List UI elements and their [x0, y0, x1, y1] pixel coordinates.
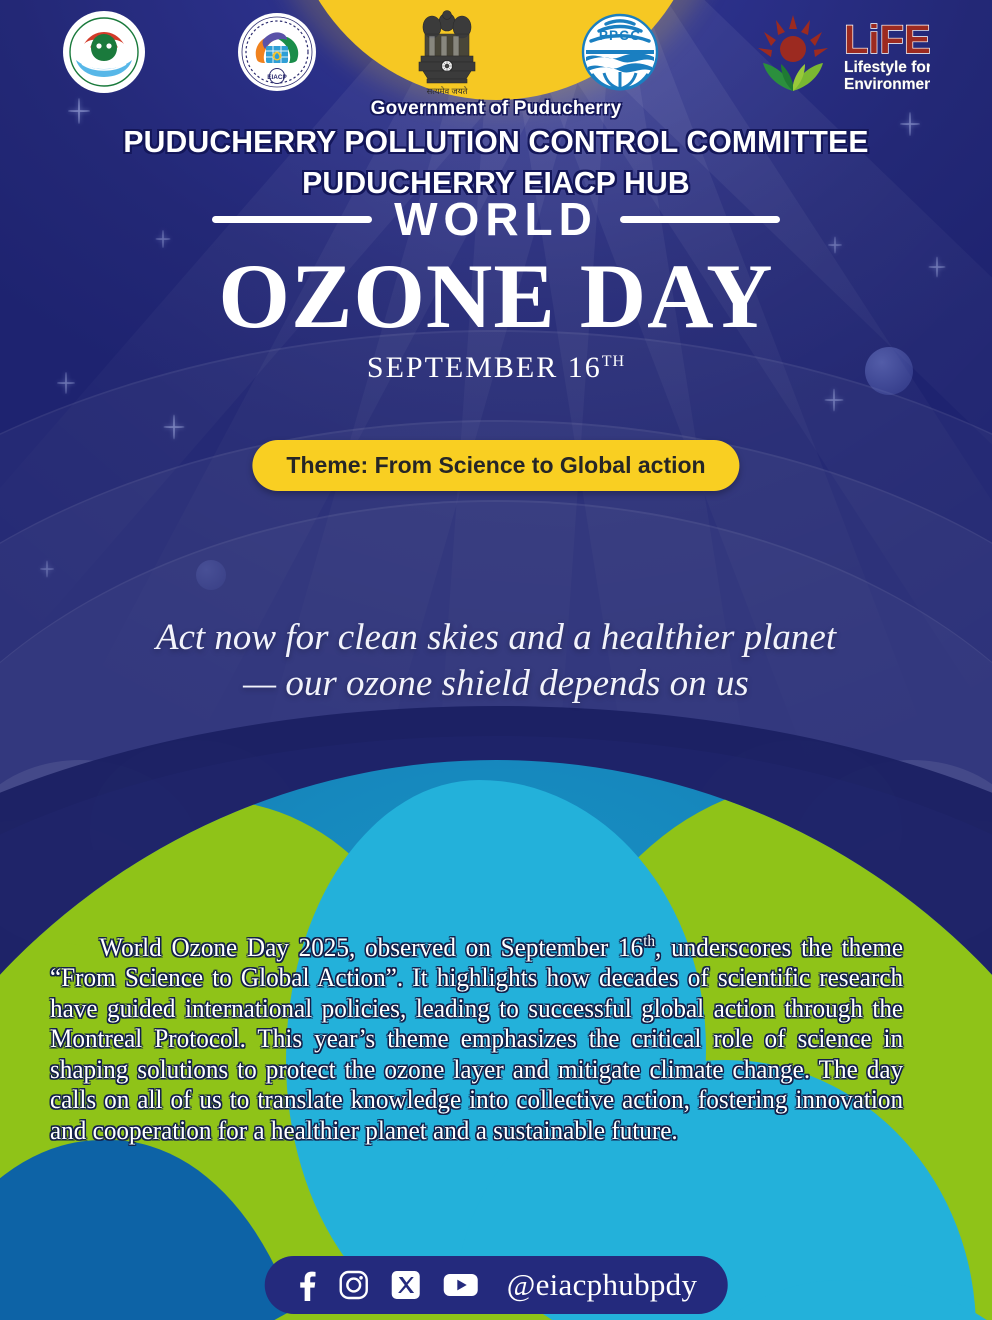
logo-row: EIACP [0, 6, 992, 98]
organisation-line-1: PUDUCHERRY POLLUTION CONTROL COMMITTEE [15, 123, 977, 161]
facebook-icon[interactable] [295, 1269, 317, 1301]
x-twitter-icon[interactable] [391, 1270, 421, 1300]
eiacp-emblem: EIACP [237, 12, 317, 92]
tagline-line-2: — our ozone shield depends on us [46, 661, 946, 707]
svg-text:Lifestyle for: Lifestyle for [844, 59, 930, 76]
tagline-line-1: Act now for clean skies and a healthier … [46, 615, 946, 661]
government-line: Government of Puducherry [0, 98, 992, 120]
poster: EIACP [0, 0, 992, 1320]
svg-text:PPCC: PPCC [598, 28, 640, 43]
title-world: WORLD [394, 196, 598, 242]
organisation-block: Government of Puducherry PUDUCHERRY POLL… [0, 98, 992, 203]
svg-text:EIACP: EIACP [267, 74, 287, 81]
body-paragraph-part-2: , underscores the theme “From Science to… [50, 932, 903, 1145]
ministry-environment-emblem [62, 10, 146, 94]
body-paragraph-part-1: World Ozone Day 2025, observed on Septem… [99, 932, 643, 962]
world-row: WORLD [0, 196, 992, 242]
india-national-emblem: सत्यमेव जयते [407, 6, 487, 98]
youtube-icon[interactable] [443, 1272, 479, 1298]
body-paragraph-superscript: th [643, 933, 655, 950]
body-paragraph: World Ozone Day 2025, observed on Septem… [50, 932, 903, 1145]
sparkle-icon [163, 414, 184, 439]
life-logo: LiFE Lifestyle for Environment [752, 9, 930, 95]
title-date-text: SEPTEMBER 16 [367, 351, 602, 384]
sparkle-icon [824, 388, 843, 411]
title-main: OZONE DAY [0, 248, 992, 345]
title-date-suffix: TH [602, 353, 625, 370]
title-rule-left [212, 216, 372, 223]
svg-text:LiFE: LiFE [844, 18, 930, 62]
svg-text:Environment: Environment [844, 76, 930, 93]
title-block: WORLD OZONE DAY SEPTEMBER 16TH [0, 196, 992, 385]
moon-decoration [196, 560, 226, 590]
ppcc-globe-logo: PPCC [578, 10, 662, 94]
social-bar: @eiacphubpdy [265, 1256, 728, 1314]
social-handle[interactable]: @eiacphubpdy [507, 1267, 698, 1303]
instagram-icon[interactable] [339, 1270, 369, 1300]
title-date: SEPTEMBER 16TH [0, 351, 992, 385]
tagline: Act now for clean skies and a healthier … [46, 615, 946, 708]
theme-badge[interactable]: Theme: From Science to Global action [252, 440, 739, 491]
svg-text:सत्यमेव जयते: सत्यमेव जयते [427, 86, 468, 96]
title-rule-right [620, 216, 780, 223]
sparkle-icon [40, 560, 54, 577]
